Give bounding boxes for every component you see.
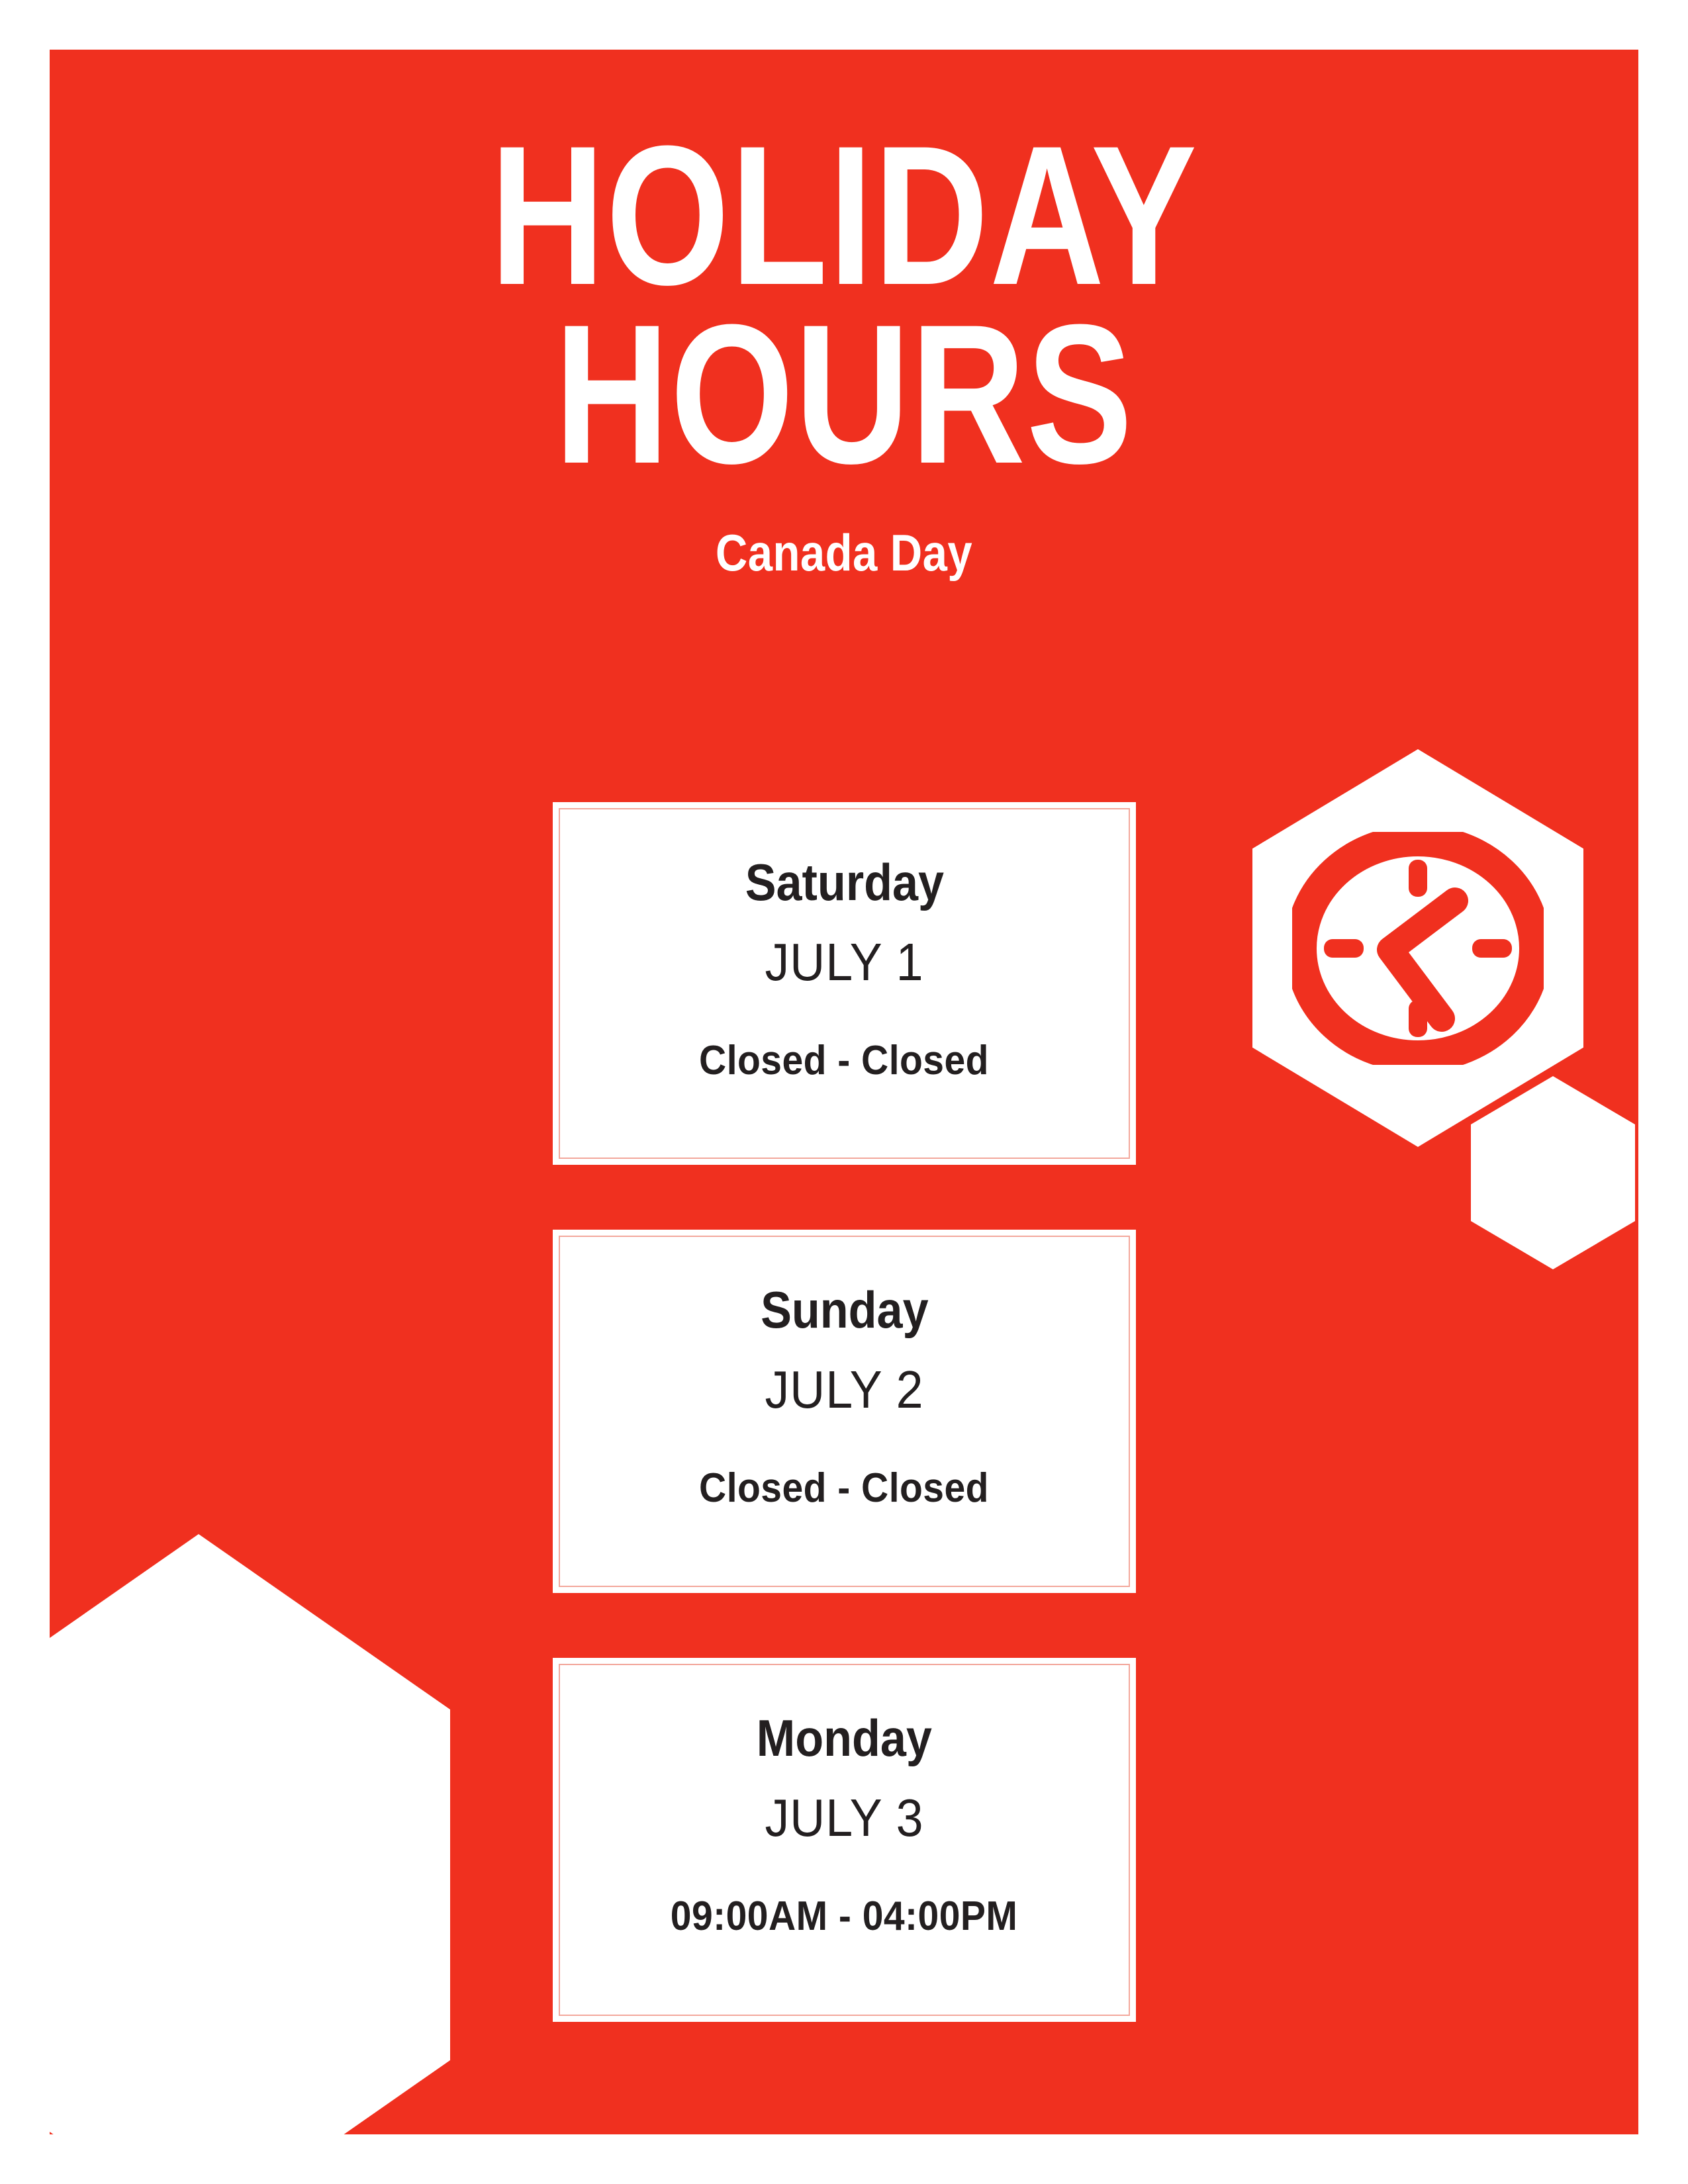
schedule-day-name: Sunday bbox=[761, 1284, 929, 1336]
poster-subtitle: Canada Day bbox=[161, 523, 1527, 583]
schedule-hours: Closed - Closed bbox=[700, 1040, 990, 1081]
schedule-day-name: Monday bbox=[757, 1712, 932, 1764]
schedule-date: JULY 3 bbox=[765, 1792, 923, 1844]
clock-icon bbox=[1292, 832, 1544, 1065]
schedule-card: Saturday JULY 1 Closed - Closed bbox=[553, 802, 1136, 1165]
schedule-hours: Closed - Closed bbox=[700, 1468, 990, 1509]
schedule-day-name: Saturday bbox=[745, 856, 943, 908]
holiday-hours-poster: HOLIDAY HOURS Canada Day Saturday JULY 1… bbox=[0, 0, 1688, 2184]
headline-block: HOLIDAY HOURS Canada Day bbox=[50, 126, 1638, 583]
schedule-date: JULY 1 bbox=[765, 936, 923, 989]
schedule-hours: 09:00AM - 04:00PM bbox=[671, 1896, 1018, 1937]
page-title: HOLIDAY HOURS bbox=[209, 126, 1479, 483]
schedule-card: Monday JULY 3 09:00AM - 04:00PM bbox=[553, 1658, 1136, 2022]
schedule-card: Sunday JULY 2 Closed - Closed bbox=[553, 1230, 1136, 1593]
schedule-date: JULY 2 bbox=[765, 1363, 923, 1416]
